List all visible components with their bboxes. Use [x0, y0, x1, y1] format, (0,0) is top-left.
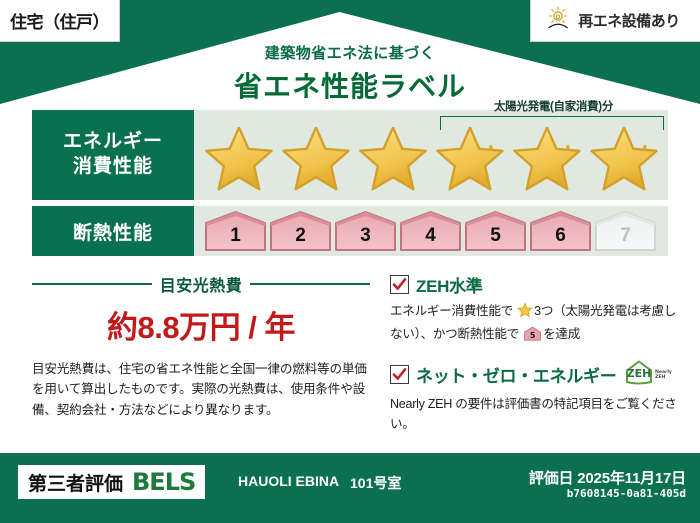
insulation-performance-row: 断熱性能 1234567 [32, 206, 668, 256]
svg-text:ZEH: ZEH [627, 367, 652, 380]
insulation-level-number: 2 [269, 225, 332, 247]
dwelling-type-text: 住宅（住戸） [10, 8, 109, 33]
svg-text:ZEH: ZEH [655, 374, 665, 380]
zeh-nearly-logo-icon: ZEH Nearly ZEH [623, 359, 679, 390]
utility-cost-heading: 目安光熱費 [32, 272, 370, 296]
insulation-level-number: 4 [399, 225, 462, 247]
zeh-standard-body-part1: エネルギー消費性能で [390, 304, 513, 318]
utility-cost-title: 目安光熱費 [160, 272, 243, 296]
footer: 第三者評価 BELS HAUOLI EBINA 101号室 評価日 2025年1… [0, 453, 700, 523]
checkmark-icon [390, 275, 409, 294]
insulation-level-2: 2 [269, 210, 332, 252]
zeh-claims-block: ZEH水準 エネルギー消費性能で 3つ（太陽光発電は考慮しない）、かつ断熱性能で… [390, 272, 678, 447]
utility-cost-amount: 約8.8万円 / 年 [32, 302, 370, 347]
star-icon [202, 127, 276, 193]
insulation-level-number: 6 [529, 225, 592, 247]
star-icon [510, 127, 584, 193]
insulation-performance-value: 1234567 [194, 206, 668, 256]
star-icon [587, 127, 661, 193]
star-icon [517, 302, 533, 324]
evaluation-id: b7608145-0a81-405d [567, 487, 686, 500]
bels-logo-text: BELS [132, 468, 195, 496]
zeh-standard-claim: ZEH水準 エネルギー消費性能で 3つ（太陽光発電は考慮しない）、かつ断熱性能で… [390, 272, 678, 347]
insulation-level-3: 3 [334, 210, 397, 252]
bels-jp-text: 第三者評価 [28, 469, 123, 496]
insulation-level-6: 6 [529, 210, 592, 252]
star-icon [433, 127, 507, 193]
renewable-equipment-tag: D 再エネ設備あり [530, 0, 700, 42]
svg-text:5: 5 [530, 331, 535, 340]
star-rating [194, 127, 661, 193]
house-badge-icon: 5 [523, 326, 542, 347]
zeh-standard-claim-head: ZEH水準 [390, 272, 678, 297]
insulation-level-4: 4 [399, 210, 462, 252]
star-icon [356, 127, 430, 193]
bels-certification-box: 第三者評価 BELS [18, 465, 205, 499]
star-icon [279, 127, 353, 193]
utility-cost-note: 目安光熱費は、住宅の省エネ性能と全国一律の燃料等の単価を用いて算出したものです。… [32, 359, 370, 420]
renewable-equipment-text: 再エネ設備あり [578, 10, 680, 31]
net-zero-energy-title: ネット・ゼロ・エネルギー [416, 362, 616, 387]
rule-right [250, 283, 370, 285]
net-zero-energy-claim: ネット・ゼロ・エネルギー ZEH Nearly ZEH Nearly ZEH の… [390, 359, 678, 434]
unit-name: 101号室 [350, 473, 401, 493]
rule-left [32, 283, 152, 285]
insulation-level-1: 1 [204, 210, 267, 252]
net-zero-energy-body: Nearly ZEH の要件は評価書の特記項目をご覧ください。 [390, 394, 678, 434]
solar-sun-icon: D [545, 5, 571, 36]
net-zero-energy-claim-head: ネット・ゼロ・エネルギー ZEH Nearly ZEH [390, 359, 678, 390]
zeh-standard-body-part3: を達成 [543, 327, 580, 341]
insulation-scale: 1234567 [194, 210, 657, 252]
insulation-level-number: 5 [464, 225, 527, 247]
evaluation-date: 評価日 2025年11月17日 [529, 467, 686, 488]
checkmark-icon [390, 365, 409, 384]
main-panel: エネルギー 消費性能 太陽光発電(自家消費)分 断熱性能 1234567 目安光… [18, 104, 682, 449]
energy-label-line1: エネルギー [63, 130, 163, 155]
solar-generation-caption: 太陽光発電(自家消費)分 [446, 98, 661, 114]
energy-performance-value: 太陽光発電(自家消費)分 [194, 110, 668, 200]
energy-performance-label-box: エネルギー 消費性能 [32, 110, 194, 200]
zeh-standard-body: エネルギー消費性能で 3つ（太陽光発電は考慮しない）、かつ断熱性能で 5 を達成 [390, 301, 678, 347]
insulation-performance-label-box: 断熱性能 [32, 206, 194, 256]
energy-performance-label: 住宅（住戸） D 再エネ設備あり 建築物省エネ法に基づ [0, 0, 700, 523]
insulation-level-number: 3 [334, 225, 397, 247]
energy-label-line2: 消費性能 [73, 155, 153, 180]
utility-cost-block: 目安光熱費 約8.8万円 / 年 目安光熱費は、住宅の省エネ性能と全国一律の燃料… [32, 272, 370, 420]
zeh-standard-title: ZEH水準 [416, 272, 483, 297]
insulation-level-number: 7 [594, 225, 657, 247]
insulation-level-number: 1 [204, 225, 267, 247]
insulation-level-7: 7 [594, 210, 657, 252]
energy-performance-row: エネルギー 消費性能 太陽光発電(自家消費)分 [32, 110, 668, 200]
building-name: HAUOLI EBINA [238, 473, 339, 489]
insulation-label-text: 断熱性能 [73, 218, 153, 245]
svg-text:D: D [556, 14, 561, 21]
insulation-level-5: 5 [464, 210, 527, 252]
dwelling-type-tag: 住宅（住戸） [0, 0, 120, 42]
